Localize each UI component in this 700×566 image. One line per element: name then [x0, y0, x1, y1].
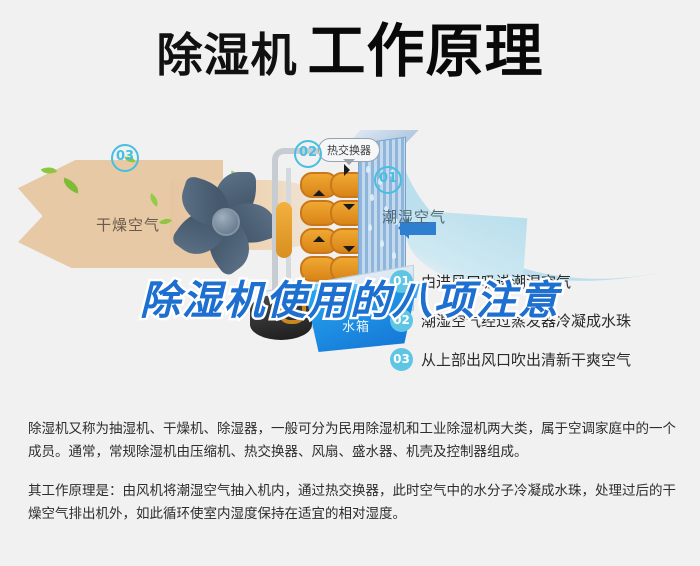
humid-air-label: 潮湿空气: [382, 206, 446, 227]
diagram-badge-01: 01: [374, 166, 402, 194]
flow-arrow-down-icon: [343, 246, 355, 258]
fan-icon: [168, 164, 280, 276]
water-drop: [380, 240, 384, 247]
body-paragraph-2: 其工作原理是：由风机将潮湿空气抽入机内，通过热交换器，此时空气中的水分子冷凝成水…: [28, 480, 676, 526]
flow-arrow-up-icon: [313, 230, 325, 242]
gas-cylinder: [276, 202, 292, 258]
dry-air-label: 干燥空气: [96, 214, 160, 235]
body-paragraph-1: 除湿机又称为抽湿机、干燥机、除湿器，一般可分为民用除湿机和工业除湿机两大类，属于…: [28, 418, 676, 464]
water-drop: [366, 166, 370, 173]
water-drop: [368, 224, 372, 231]
infographic-page: 除湿机工作原理: [0, 0, 700, 566]
water-drop: [392, 252, 396, 259]
page-title-main: 工作原理: [307, 17, 543, 85]
legend-badge: 03: [390, 348, 413, 371]
legend-label: 从上部出风口吹出清新干爽空气: [421, 349, 631, 370]
page-title-prefix: 除湿机: [156, 28, 297, 82]
article-body: 除湿机又称为抽湿机、干燥机、除湿器，一般可分为民用除湿机和工业除湿机两大类，属于…: [28, 418, 676, 542]
heat-exchanger-callout: 热交换器: [318, 138, 380, 162]
flow-arrow-down-icon: [343, 204, 355, 216]
flow-arrow-up-icon: [313, 184, 325, 196]
legend-item: 03 从上部出风口吹出清新干爽空气: [390, 348, 690, 371]
diagram-badge-02: 02: [294, 140, 322, 168]
water-drop: [370, 194, 374, 201]
fan-hub: [212, 208, 240, 236]
diagram-badge-03: 03: [111, 144, 139, 172]
page-title: 除湿机工作原理: [0, 22, 700, 80]
overlay-headline: 除湿机使用的八项注意: [0, 268, 700, 326]
